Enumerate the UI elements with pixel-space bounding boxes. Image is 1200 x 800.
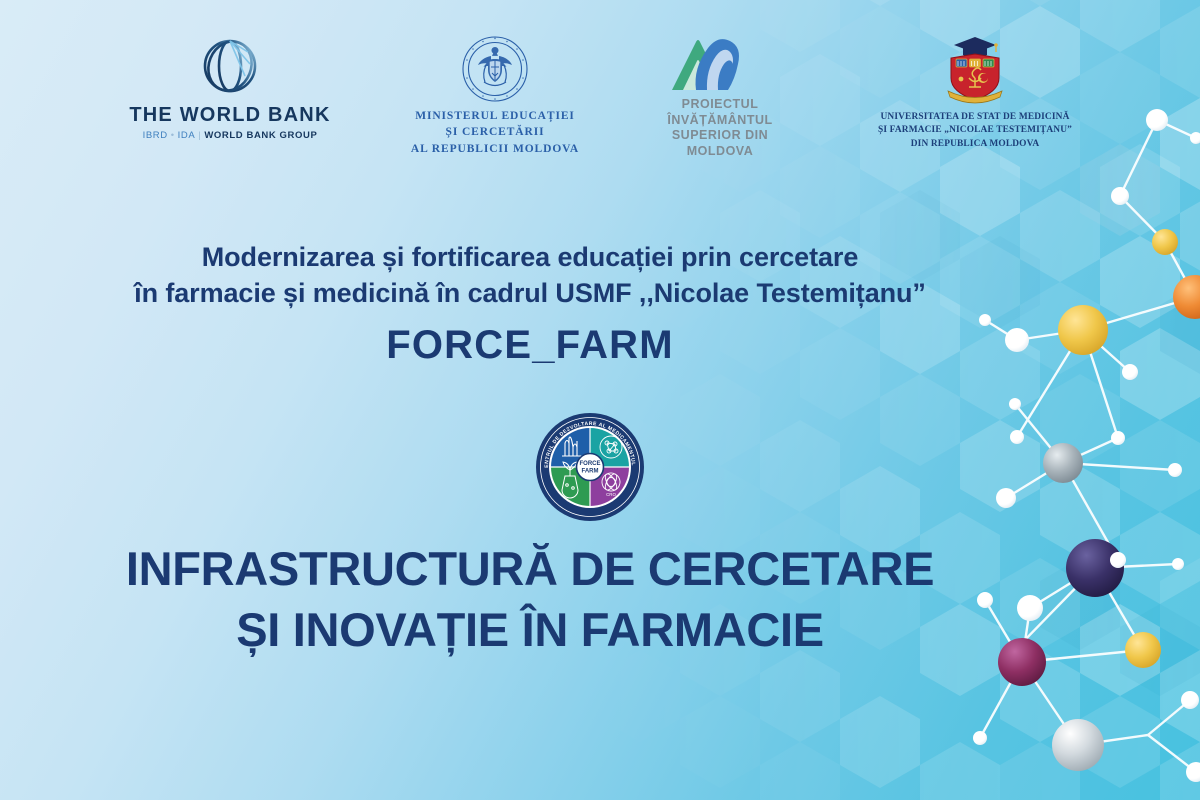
molecule-node-silver: [1052, 719, 1104, 771]
molecule-node-white-4: [1110, 552, 1126, 568]
molecule-node-yellow-2: [1125, 632, 1161, 668]
wb-ibrd: IBRD: [143, 130, 168, 141]
main-title-line-1: INFRASTRUCTURĂ DE CERCETARE: [0, 538, 1060, 599]
partner-logos-row: THE WORLD BANK IBRD•IDA|WORLD BANK GROUP: [0, 34, 1200, 184]
ministry-line-3: AL REPUBLICII MOLDOVA: [411, 141, 579, 157]
force-farm-seal-icon: CENTRUL DE DEZVOLTARE AL MEDICAMENTULUI …: [535, 412, 645, 522]
usmf-line-2: ȘI FARMACIE „NICOLAE TESTEMIȚANU”: [878, 124, 1072, 137]
project-line-1: PROIECTUL: [682, 97, 759, 113]
force-farm-seal: CENTRUL DE DEZVOLTARE AL MEDICAMENTULUI …: [535, 412, 645, 522]
wb-group: WORLD BANK GROUP: [204, 130, 317, 141]
ministry-line-1: MINISTERUL EDUCAȚIEI: [415, 108, 575, 124]
main-title-line-2: ȘI INOVAȚIE ÎN FARMACIE: [0, 599, 1060, 660]
molecule-node-white: [1122, 364, 1138, 380]
molecule-node-white-3: [1111, 431, 1125, 445]
project-description-line-2: în farmacie și medicină în cadrul USMF ,…: [0, 276, 1060, 312]
molecule-node-yellow: [1058, 305, 1108, 355]
mountain-arc-icon: [666, 34, 774, 92]
molecule-node-gray: [1043, 443, 1083, 483]
project-line-3: SUPERIOR DIN: [672, 128, 768, 144]
wb-ida: IDA: [178, 130, 196, 141]
partner-logo-ministry-education: MINISTERUL EDUCAȚIEI ȘI CERCETĂRII AL RE…: [380, 34, 610, 157]
partner-logo-higher-education-project: PROIECTUL ÎNVĂȚĂMÂNTUL SUPERIOR DIN MOLD…: [610, 34, 830, 159]
project-line-2: ÎNVĂȚĂMÂNTUL: [667, 113, 772, 129]
poster-canvas: THE WORLD BANK IBRD•IDA|WORLD BANK GROUP: [0, 0, 1200, 800]
seal-center-line-1: FORCE: [580, 461, 601, 467]
molecule-node-yellow-3: [1152, 229, 1178, 255]
seal-center-line-2: FARM: [582, 469, 599, 475]
usmf-line-1: UNIVERSITATEA DE STAT DE MEDICINĂ: [880, 111, 1069, 124]
world-bank-subtitle: IBRD•IDA|WORLD BANK GROUP: [143, 130, 318, 141]
main-title-block: INFRASTRUCTURĂ DE CERCETARE ȘI INOVAȚIE …: [0, 538, 1060, 660]
molecule-node-navy: [1066, 539, 1124, 597]
partner-logo-world-bank: THE WORLD BANK IBRD•IDA|WORLD BANK GROUP: [80, 34, 380, 141]
project-highlight-moldova: MOLDOVA: [687, 144, 753, 160]
ministry-line-2: ȘI CERCETĂRII: [446, 124, 545, 140]
globe-grid-icon: [198, 34, 262, 98]
wb-bullet: •: [171, 130, 175, 141]
world-bank-title: THE WORLD BANK: [129, 105, 330, 125]
wb-divider: |: [198, 130, 201, 141]
seal-cro-label: CRO: [606, 492, 616, 497]
moldova-coat-of-arms-icon: [460, 34, 530, 104]
project-description-line-1: Modernizarea și fortificarea educației p…: [0, 240, 1060, 276]
university-crest-icon: [942, 34, 1008, 108]
partner-logo-usmf: UNIVERSITATEA DE STAT DE MEDICINĂ ȘI FAR…: [830, 34, 1120, 151]
molecule-node-orange: [1173, 275, 1200, 319]
usmf-line-3: DIN REPUBLICA MOLDOVA: [911, 138, 1040, 151]
project-acronym: FORCE_FARM: [0, 323, 1060, 368]
project-heading-block: Modernizarea și fortificarea educației p…: [0, 240, 1060, 368]
molecule-node-white-5: [1186, 762, 1200, 782]
